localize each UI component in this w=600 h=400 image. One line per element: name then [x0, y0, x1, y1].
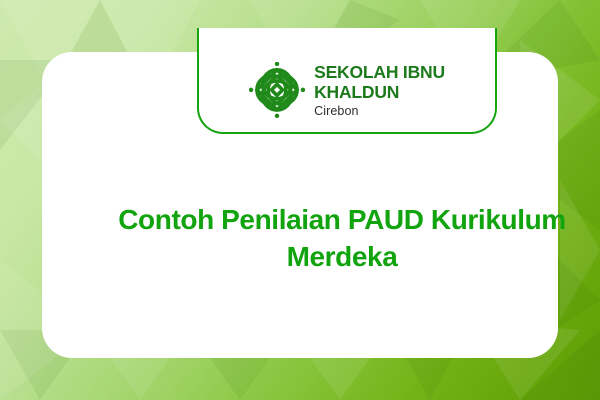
brand-line-2: KHALDUN: [314, 84, 445, 102]
brand-subtitle: Cirebon: [314, 105, 445, 118]
page-title: Contoh Penilaian PAUD Kurikulum Merdeka: [104, 202, 580, 276]
title-container: Contoh Penilaian PAUD Kurikulum Merdeka: [104, 202, 580, 276]
brand-header-panel: SEKOLAH IBNU KHALDUN Cirebon: [197, 28, 497, 134]
brand-line-1: SEKOLAH IBNU: [314, 64, 445, 82]
sekolah-ibnu-khaldun-knot-logo-icon: [249, 62, 305, 120]
brand-text-block: SEKOLAH IBNU KHALDUN Cirebon: [314, 64, 445, 118]
content-card: SEKOLAH IBNU KHALDUN Cirebon Contoh Peni…: [42, 52, 558, 358]
poster-canvas: SEKOLAH IBNU KHALDUN Cirebon Contoh Peni…: [0, 0, 600, 400]
